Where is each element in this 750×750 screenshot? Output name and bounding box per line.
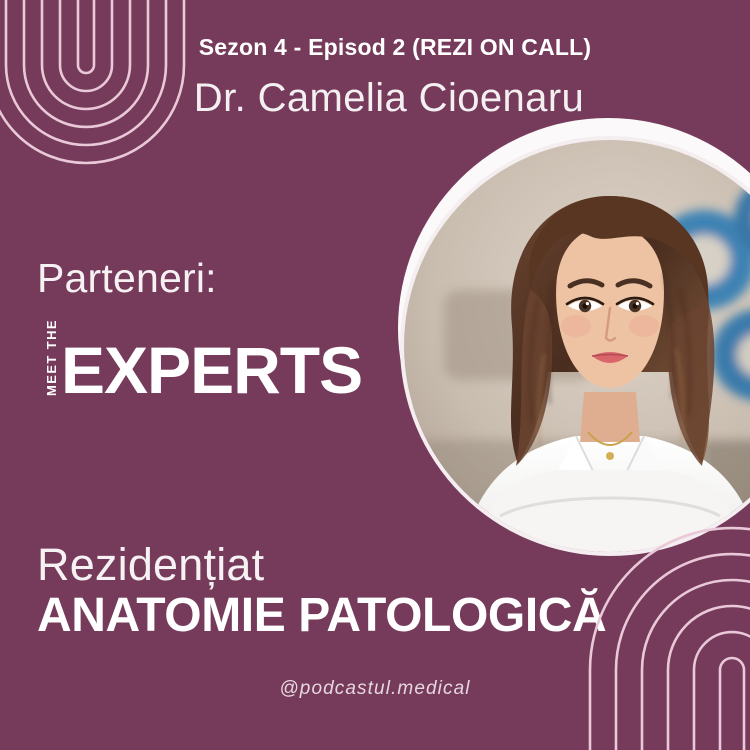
podcast-episode-poster: Sezon 4 - Episod 2 (REZI ON CALL) Dr. Ca… [0,0,750,750]
episode-label: Sezon 4 - Episod 2 (REZI ON CALL) [0,34,750,61]
guest-name: Dr. Camelia Cioenaru [0,76,750,121]
partners-heading: Parteneri: [37,258,397,299]
topic-section: Rezidențiat ANATOMIE PATOLOGICĂ [37,542,697,642]
partner-logo-prefix: MEET THE [45,319,58,396]
topic-line-2: ANATOMIE PATOLOGICĂ [37,591,697,642]
topic-line-1: Rezidențiat [37,542,697,589]
partner-logo-name: EXPERTS [61,343,362,398]
social-handle: @podcastul.medical [0,678,750,700]
partner-logo: MEET THE EXPERTS [45,319,397,398]
partners-section: Parteneri: MEET THE EXPERTS [37,258,397,398]
